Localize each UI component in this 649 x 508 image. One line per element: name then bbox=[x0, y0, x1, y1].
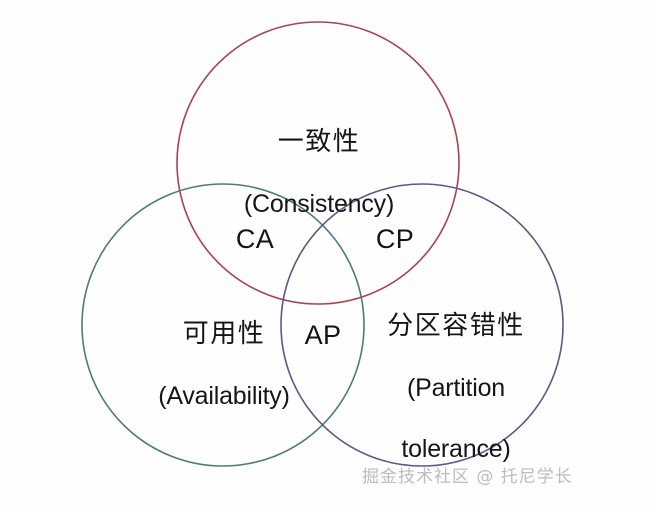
cap-theorem-venn-diagram: 一致性 (Consistency) 可用性 (Availability) 分区容… bbox=[0, 0, 649, 508]
set-label-partition-tolerance-latin-line2: tolerance) bbox=[356, 434, 556, 465]
set-label-availability-latin: (Availability) bbox=[88, 381, 360, 412]
intersection-label-ca: CA bbox=[200, 224, 310, 255]
set-label-consistency-cjk: 一致性 bbox=[178, 127, 460, 159]
watermark-text: 掘金技术社区 @ 托尼学长 bbox=[362, 462, 642, 487]
intersection-label-cp: CP bbox=[340, 224, 450, 255]
set-label-consistency-latin: (Consistency) bbox=[178, 189, 460, 220]
intersection-label-ap: AP bbox=[268, 320, 378, 351]
set-label-partition-tolerance-cjk: 分区容错性 bbox=[356, 311, 556, 343]
set-label-availability: 可用性 (Availability) bbox=[88, 288, 360, 442]
set-label-partition-tolerance-latin-line1: (Partition bbox=[356, 373, 556, 404]
